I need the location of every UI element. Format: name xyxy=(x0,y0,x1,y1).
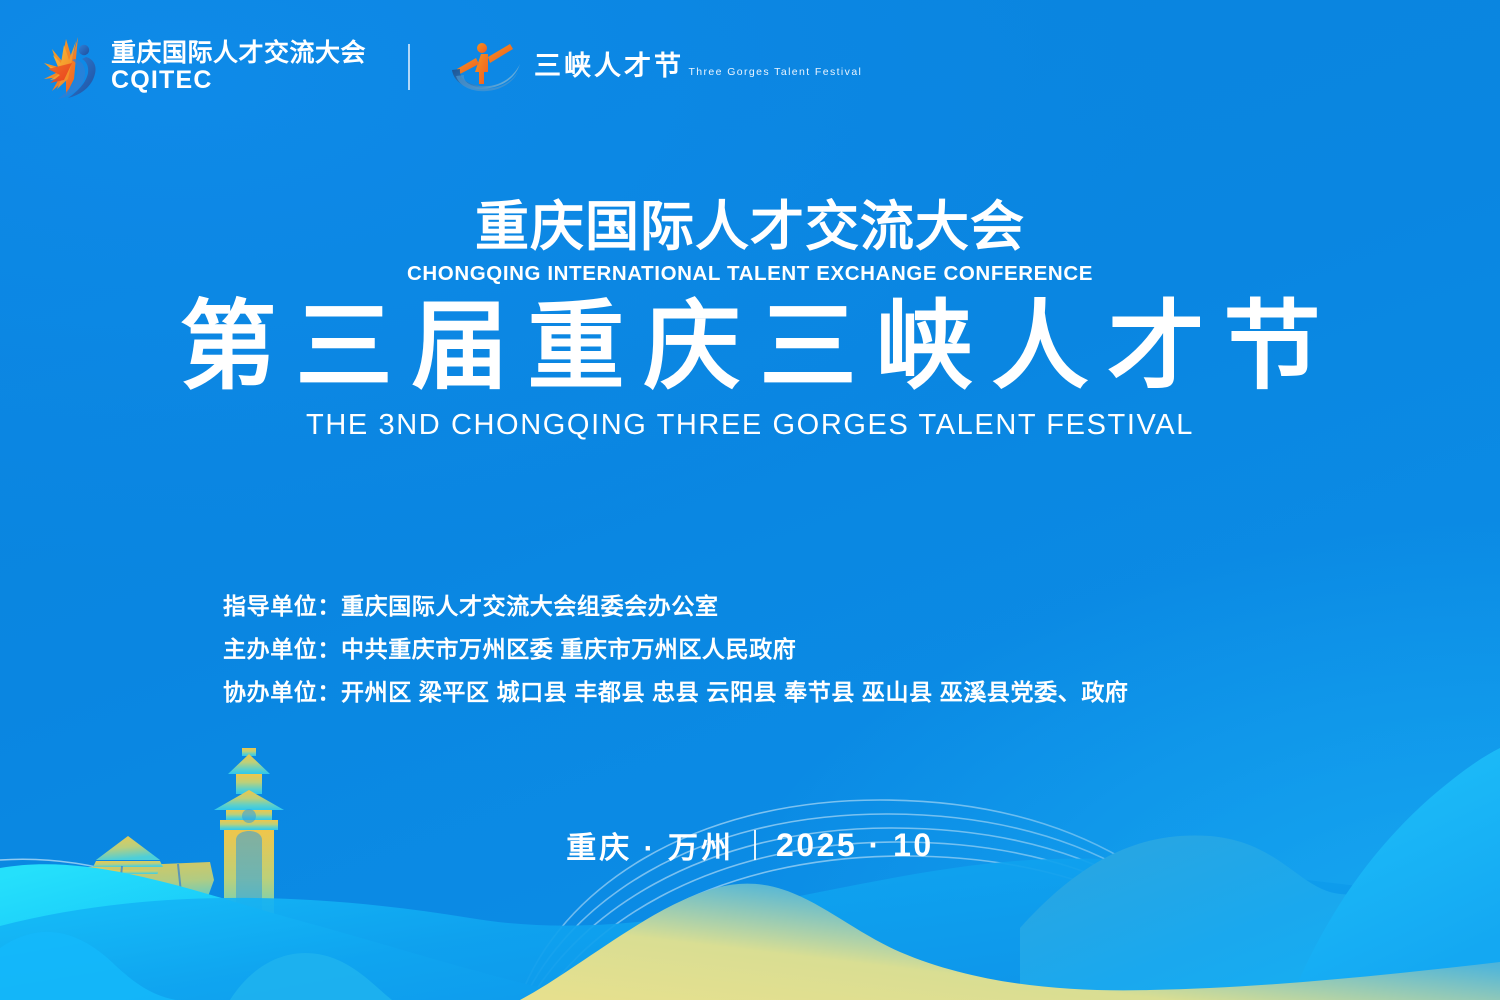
organizer-list: 指导单位：重庆国际人才交流大会组委会办公室 主办单位：中共重庆市万州区委 重庆市… xyxy=(223,585,1129,714)
header-divider xyxy=(408,44,410,90)
organizer-line-coorganizer: 协办单位：开州区 梁平区 城口县 丰都县 忠县 云阳县 奉节县 巫山县 巫溪县党… xyxy=(223,671,1129,714)
three-gorges-dancer-wave-logo-icon xyxy=(448,36,524,98)
wave-far-right-cyan xyxy=(1290,748,1500,1000)
header-logos: 重庆国际人才交流大会 CQITEC xyxy=(42,33,862,101)
logo-cqitec-cn: 重庆国际人才交流大会 xyxy=(111,39,366,67)
main-title-cn: 第三届重庆三峡人才节 xyxy=(0,292,1500,403)
logo-cqitec-text: 重庆国际人才交流大会 CQITEC xyxy=(111,40,366,95)
footer-date: 2025 · 10 xyxy=(776,827,934,864)
conference-title-cn: 重庆国际人才交流大会 xyxy=(0,198,1500,256)
poster-canvas: 重庆国际人才交流大会 CQITEC xyxy=(0,0,1500,1000)
logo-three-gorges-cn: 三峡人才节 xyxy=(534,51,684,81)
decorative-bottom-artwork xyxy=(0,740,1500,1000)
logo-cqitec[interactable]: 重庆国际人才交流大会 CQITEC xyxy=(42,33,366,101)
footer-place: 重庆 · 万州 xyxy=(566,823,734,867)
logo-three-gorges-text: 三峡人才节 Three Gorges Talent Festival xyxy=(534,52,862,82)
footer-place-date: 重庆 · 万州 2025 · 10 xyxy=(0,823,1500,867)
organizer-line-guidance: 指导单位：重庆国际人才交流大会组委会办公室 xyxy=(223,585,1129,628)
organizer-line-host: 主办单位：中共重庆市万州区委 重庆市万州区人民政府 xyxy=(223,628,1129,671)
title-group: 重庆国际人才交流大会 CHONGQING INTERNATIONAL TALEN… xyxy=(0,198,1500,442)
cqitec-phoenix-figure-logo-icon xyxy=(42,33,102,101)
footer-divider xyxy=(754,830,756,860)
logo-three-gorges[interactable]: 三峡人才节 Three Gorges Talent Festival xyxy=(448,36,862,98)
logo-cqitec-en: CQITEC xyxy=(111,66,213,94)
main-title-en: THE 3ND CHONGQING THREE GORGES TALENT FE… xyxy=(0,409,1500,442)
conference-title-en: CHONGQING INTERNATIONAL TALENT EXCHANGE … xyxy=(0,262,1500,286)
logo-three-gorges-en: Three Gorges Talent Festival xyxy=(688,66,862,78)
